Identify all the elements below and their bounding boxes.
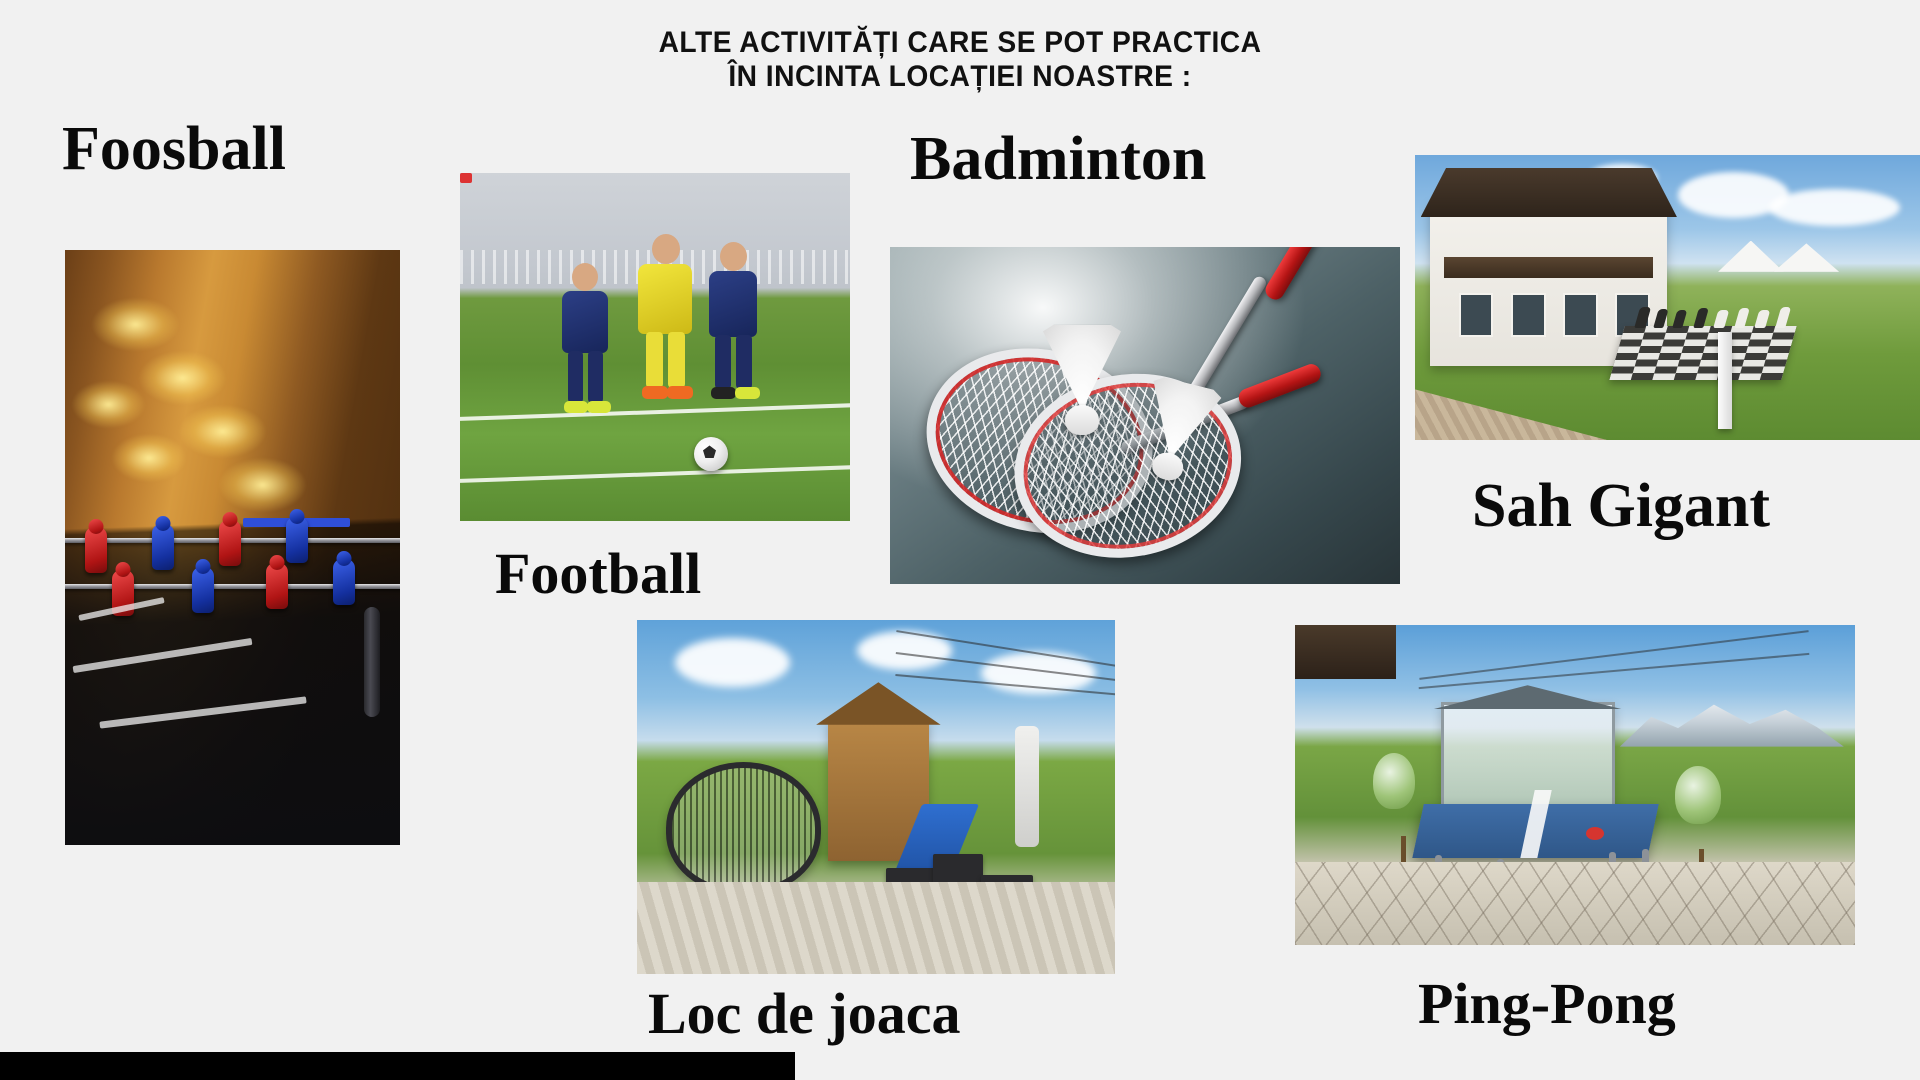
activity-label-football: Football	[495, 545, 701, 603]
activity-image-ping-pong[interactable]	[1295, 625, 1855, 945]
slide-canvas: ALTE ACTIVITĂȚI CARE SE POT PRACTICA ÎN …	[0, 0, 1920, 1080]
ping-pong-photo-scene	[1295, 625, 1855, 945]
activity-label-sah-gigant: Sah Gigant	[1472, 475, 1770, 537]
sah-gigant-photo-scene	[1415, 155, 1920, 440]
activity-image-sah-gigant[interactable]	[1415, 155, 1920, 440]
page-title: ALTE ACTIVITĂȚI CARE SE POT PRACTICA ÎN …	[0, 26, 1920, 93]
activity-image-badminton[interactable]	[890, 247, 1400, 584]
activity-label-badminton: Badminton	[910, 128, 1206, 190]
activity-label-foosball: Foosball	[62, 118, 286, 180]
activity-image-football[interactable]	[460, 173, 850, 521]
football-photo-scene	[460, 173, 850, 521]
activity-image-loc-de-joaca[interactable]	[637, 620, 1115, 974]
loc-de-joaca-photo-scene	[637, 620, 1115, 974]
activity-label-loc-de-joaca: Loc de joaca	[648, 985, 961, 1043]
badminton-photo-scene	[890, 247, 1400, 584]
activity-label-ping-pong: Ping-Pong	[1418, 975, 1676, 1033]
activity-image-foosball[interactable]	[65, 250, 400, 845]
title-line-2: ÎN INCINTA LOCAȚIEI NOASTRE :	[58, 60, 1863, 94]
foosball-photo-scene	[65, 250, 400, 845]
title-line-1: ALTE ACTIVITĂȚI CARE SE POT PRACTICA	[58, 26, 1863, 60]
bottom-black-bar	[0, 1052, 795, 1080]
